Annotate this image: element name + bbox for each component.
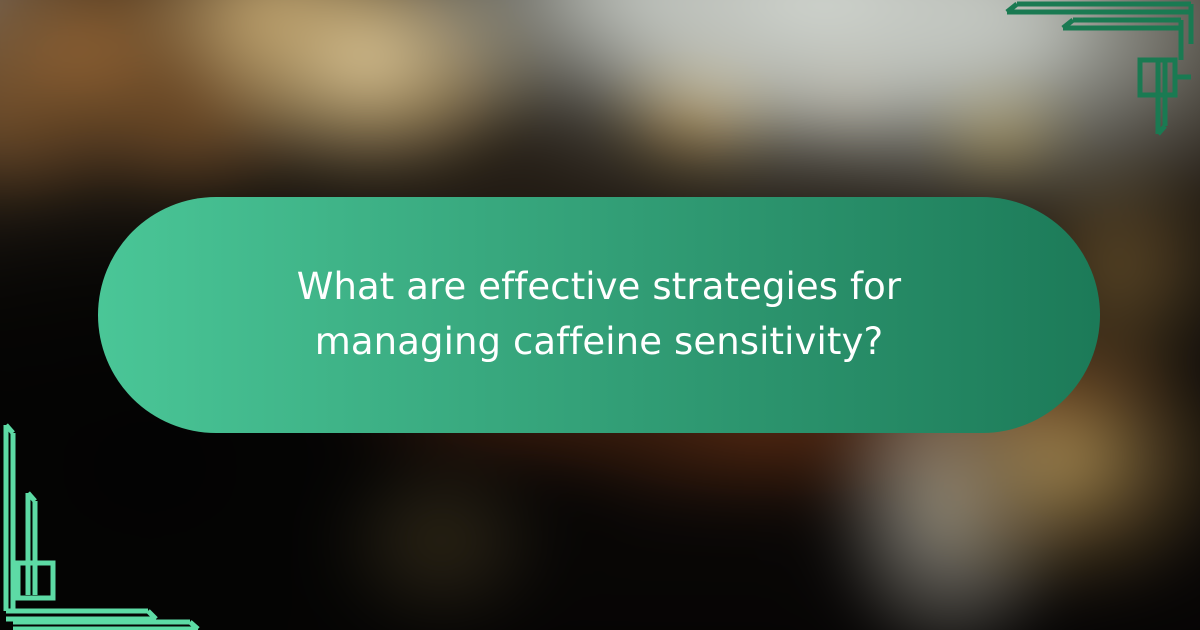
question-card: What are effective strategies for managi…: [98, 197, 1100, 433]
graphic-canvas: What are effective strategies for managi…: [0, 0, 1200, 630]
question-text: What are effective strategies for managi…: [219, 260, 979, 370]
